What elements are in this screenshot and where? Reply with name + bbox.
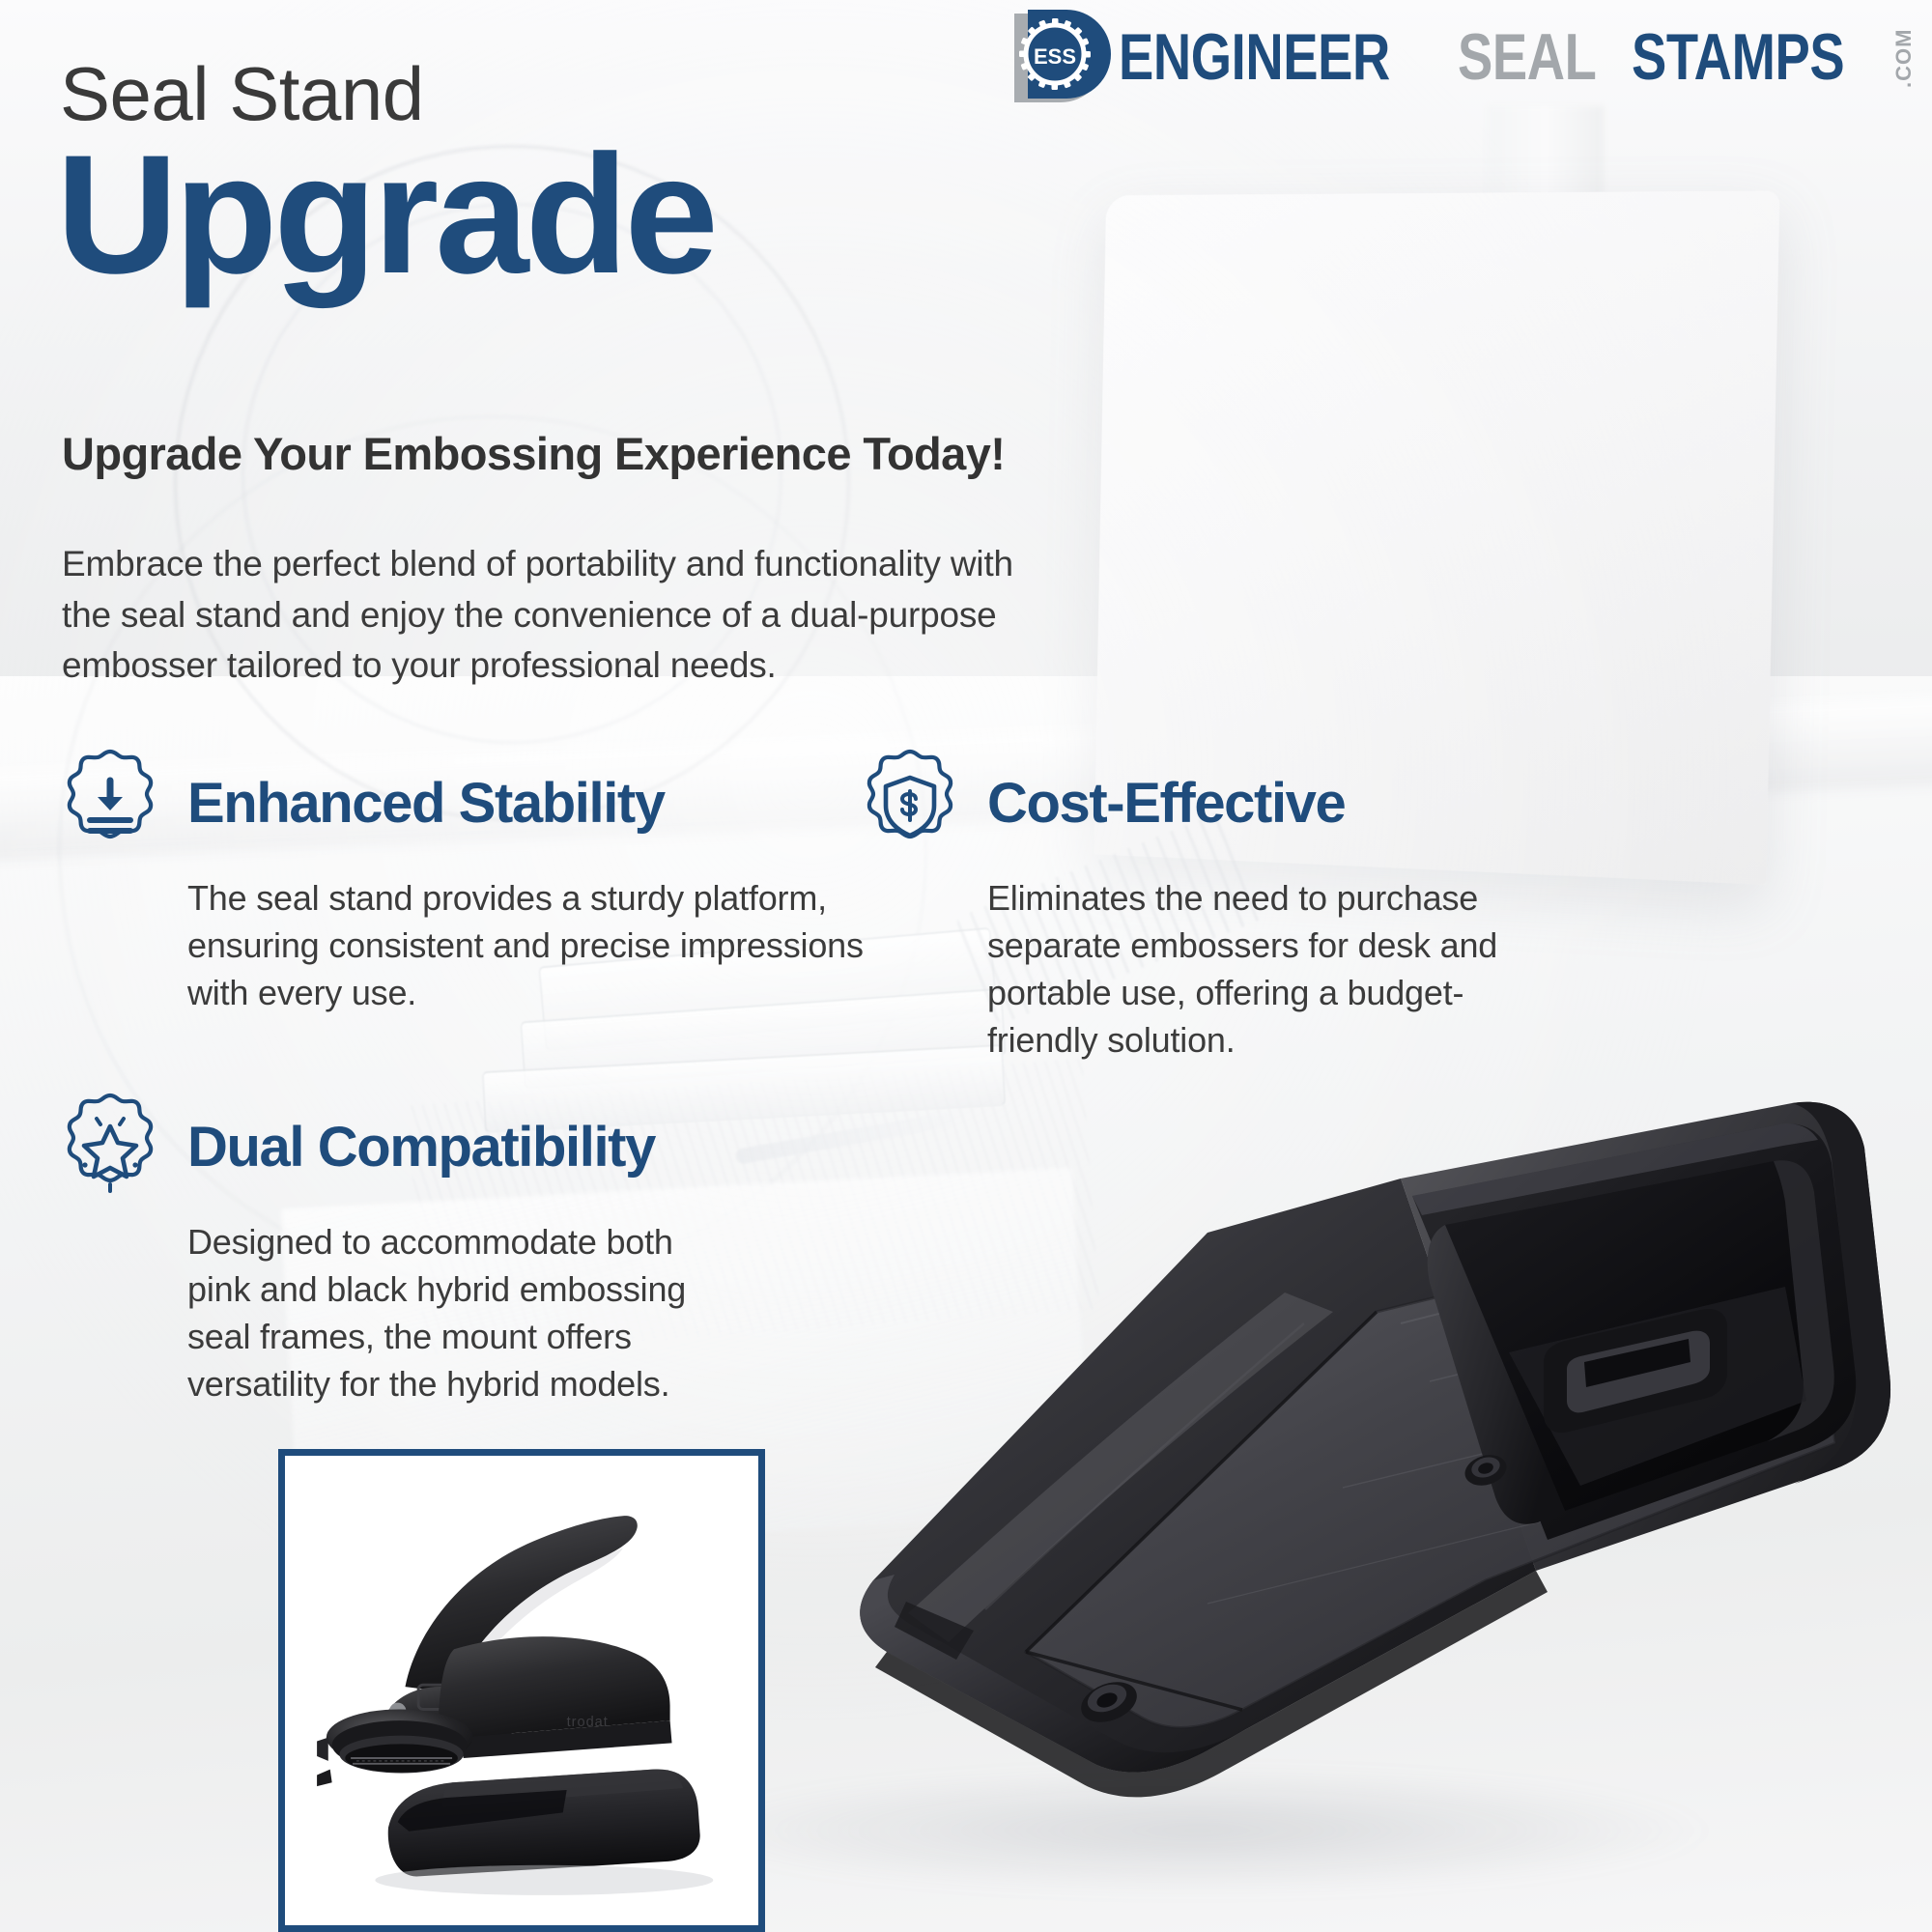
wordmark-seal: SEAL bbox=[1458, 32, 1596, 83]
ess-shield-gear-icon: ESS bbox=[1007, 6, 1111, 110]
subheading: Upgrade Your Embossing Experience Today! bbox=[62, 427, 1005, 480]
brand-wordmark: ENGINEER SEAL STAMPS bbox=[1119, 32, 1897, 83]
background-monitor-stand bbox=[1488, 106, 1604, 299]
feature-title: Cost-Effective bbox=[987, 771, 1345, 836]
infographic-page: ESS ENGINEER SEAL STAMPS .COM Seal Stand… bbox=[0, 0, 1932, 1932]
feature-header: Dual Compatibility bbox=[58, 1090, 908, 1204]
feature-header: Enhanced Stability bbox=[58, 746, 908, 860]
page-title: Upgrade bbox=[56, 135, 715, 296]
feature-title: Dual Compatibility bbox=[187, 1115, 655, 1179]
shield-dollar-badge-icon bbox=[858, 746, 962, 860]
ess-monogram: ESS bbox=[1034, 44, 1076, 69]
wordmark-engineer: ENGINEER bbox=[1119, 32, 1390, 83]
feature-enhanced-stability: Enhanced Stability The seal stand provid… bbox=[58, 746, 908, 1017]
feature-body: The seal stand provides a sturdy platfor… bbox=[187, 875, 902, 1017]
press-down-badge-icon bbox=[58, 746, 162, 860]
inset-embosser-on-stand-image: trodat bbox=[285, 1456, 758, 1925]
inset-product-photo: trodat bbox=[278, 1449, 765, 1932]
brand-logo[interactable]: ESS ENGINEER SEAL STAMPS .COM bbox=[1007, 6, 1917, 110]
intro-paragraph: Embrace the perfect blend of portability… bbox=[62, 539, 1047, 692]
svg-text:trodat: trodat bbox=[567, 1715, 609, 1730]
sparkle-star-badge-icon bbox=[58, 1090, 162, 1204]
product-ground-shadow bbox=[676, 1768, 1719, 1893]
wordmark-dotcom: .COM bbox=[1891, 24, 1917, 88]
feature-cost-effective: Cost-Effective Eliminates the need to pu… bbox=[858, 746, 1901, 1065]
wordmark-stamps: STAMPS bbox=[1632, 32, 1844, 83]
feature-dual-compatibility: Dual Compatibility Designed to accommoda… bbox=[58, 1090, 908, 1408]
feature-body: Designed to accommodate both pink and bl… bbox=[187, 1219, 728, 1408]
feature-header: Cost-Effective bbox=[858, 746, 1901, 860]
feature-body: Eliminates the need to purchase separate… bbox=[987, 875, 1528, 1065]
feature-title: Enhanced Stability bbox=[187, 771, 665, 836]
